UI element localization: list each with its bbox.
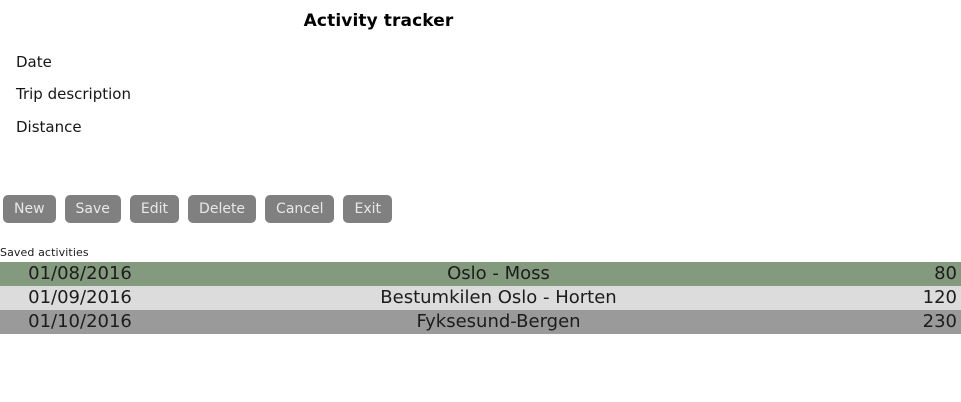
save-button[interactable]: Save: [65, 195, 121, 223]
distance-label: Distance: [16, 118, 82, 136]
table-row[interactable]: 01/08/2016 Oslo - Moss 80: [0, 262, 961, 286]
delete-button[interactable]: Delete: [188, 195, 256, 223]
page-title: Activity tracker: [0, 11, 757, 31]
cell-distance: 120: [837, 286, 961, 310]
table-row[interactable]: 01/09/2016 Bestumkilen Oslo - Horten 120: [0, 286, 961, 310]
form-row-date: Date: [16, 46, 516, 78]
activity-form: Date Trip description Distance: [16, 46, 516, 143]
cell-distance: 230: [837, 310, 961, 334]
saved-activities-table: 01/08/2016 Oslo - Moss 80 01/09/2016 Bes…: [0, 262, 961, 334]
exit-button[interactable]: Exit: [343, 195, 392, 223]
toolbar: New Save Edit Delete Cancel Exit: [3, 195, 392, 223]
cell-date: 01/09/2016: [0, 286, 160, 310]
cell-description: Fyksesund-Bergen: [160, 310, 837, 334]
edit-button[interactable]: Edit: [130, 195, 179, 223]
cell-description: Bestumkilen Oslo - Horten: [160, 286, 837, 310]
form-row-trip-description: Trip description: [16, 78, 516, 110]
cancel-button[interactable]: Cancel: [265, 195, 334, 223]
saved-activities-caption: Saved activities: [0, 246, 89, 259]
new-button[interactable]: New: [3, 195, 56, 223]
cell-date: 01/10/2016: [0, 310, 160, 334]
form-row-distance: Distance: [16, 110, 516, 143]
cell-description: Oslo - Moss: [160, 262, 837, 286]
saved-activities-body: 01/08/2016 Oslo - Moss 80 01/09/2016 Bes…: [0, 262, 961, 334]
date-label: Date: [16, 53, 52, 71]
trip-description-label: Trip description: [16, 85, 131, 103]
table-row[interactable]: 01/10/2016 Fyksesund-Bergen 230: [0, 310, 961, 334]
cell-date: 01/08/2016: [0, 262, 160, 286]
cell-distance: 80: [837, 262, 961, 286]
